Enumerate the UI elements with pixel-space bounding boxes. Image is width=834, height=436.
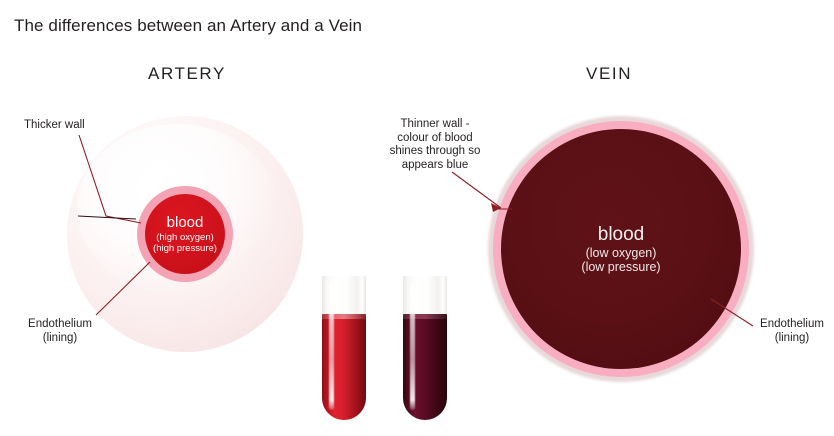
artery-blood-pressure-note: (high pressure): [153, 243, 217, 254]
artery-blood-core: blood (high oxygen) (high pressure): [145, 194, 225, 274]
artery-vein-diagram: The differences between an Artery and a …: [0, 0, 834, 436]
annotation-thinner-wall: Thinner wall - colour of blood shines th…: [383, 118, 487, 172]
vein-blood-oxygen-note: (low oxygen): [586, 246, 657, 261]
annotation-thinner-wall-line4: appears blue: [383, 159, 487, 173]
annotation-thinner-wall-line3: shines through so: [383, 145, 487, 159]
annotation-endothelium-artery-line2: (lining): [10, 332, 110, 346]
venous-blood-test-tube: [403, 276, 447, 420]
arterial-blood-test-tube: [322, 276, 366, 420]
artery-heading: ARTERY: [148, 64, 226, 84]
annotation-endothelium-vein: Endothelium (lining): [750, 318, 834, 345]
annotation-endothelium-artery-line1: Endothelium: [10, 318, 110, 332]
vein-blood-core: blood (low oxygen) (low pressure): [501, 129, 741, 369]
vein-heading: VEIN: [586, 64, 632, 84]
annotation-thinner-wall-line2: colour of blood: [383, 132, 487, 146]
vein-blood-label: blood: [598, 224, 645, 245]
test-tube-specular-highlight: [410, 284, 415, 410]
vein-blood-pressure-note: (low pressure): [581, 260, 660, 275]
annotation-thicker-wall: Thicker wall: [24, 119, 85, 133]
page-title: The differences between an Artery and a …: [14, 16, 362, 36]
artery-blood-label: blood: [167, 215, 204, 231]
artery-blood-oxygen-note: (high oxygen): [156, 232, 214, 243]
annotation-endothelium-artery: Endothelium (lining): [10, 318, 110, 345]
blood-sample-tubes: [318, 276, 458, 426]
annotation-endothelium-vein-line1: Endothelium: [750, 318, 834, 332]
test-tube-specular-highlight: [329, 284, 334, 410]
annotation-thinner-wall-line1: Thinner wall -: [383, 118, 487, 132]
artery-cross-section: blood (high oxygen) (high pressure): [67, 116, 303, 352]
vein-cross-section: blood (low oxygen) (low pressure): [488, 116, 754, 382]
annotation-endothelium-vein-line2: (lining): [750, 332, 834, 346]
annotation-thicker-wall-line1: Thicker wall: [24, 119, 85, 133]
